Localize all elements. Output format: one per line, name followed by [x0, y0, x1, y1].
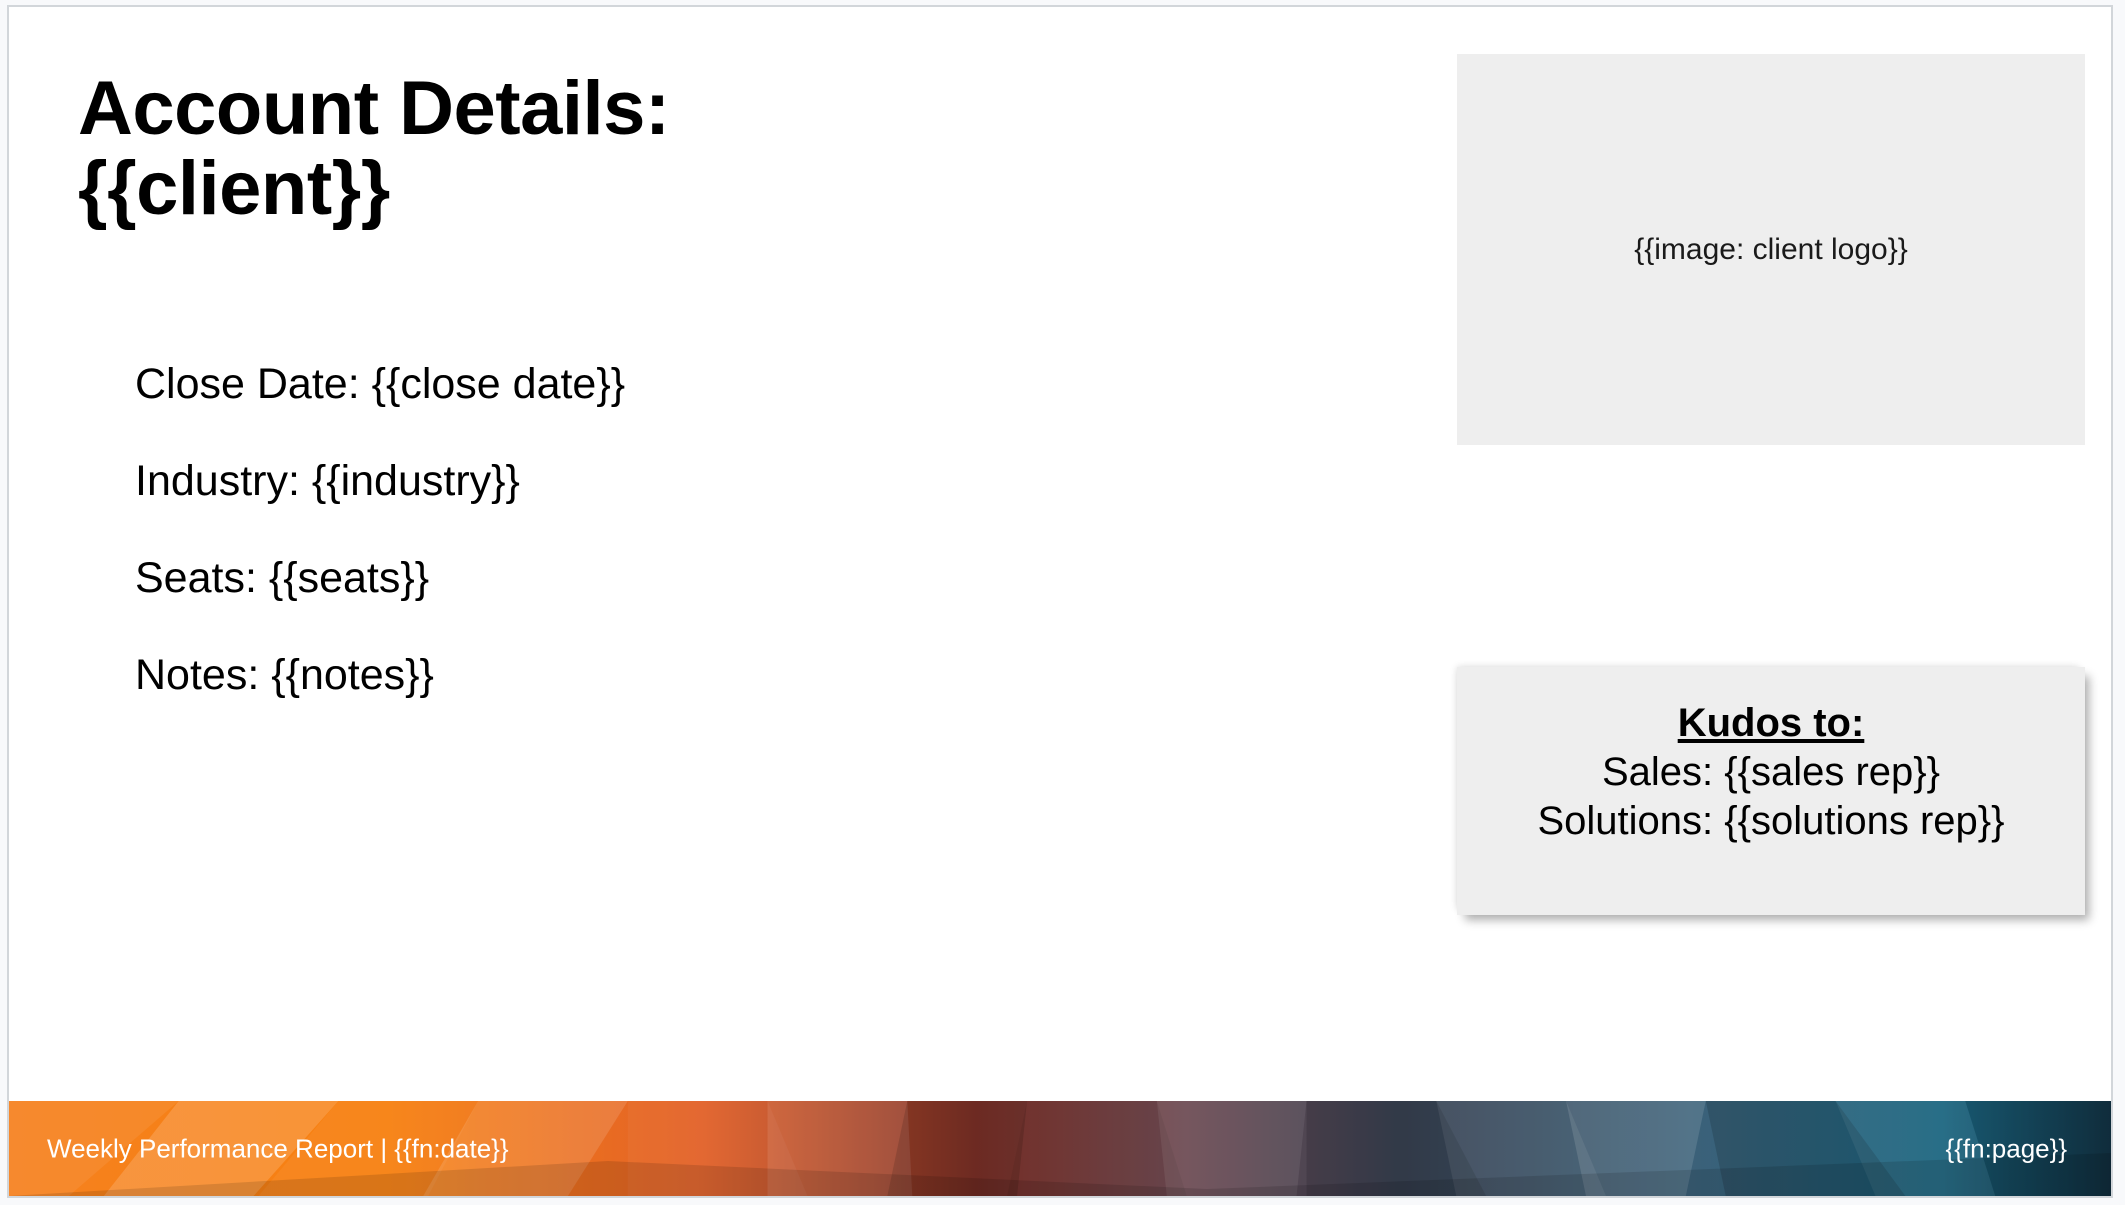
slide-footer: Weekly Performance Report | {{fn:date}} … — [9, 1101, 2111, 1196]
footer-page-number: {{fn:page}} — [1946, 1133, 2067, 1164]
page-title-line-1: Account Details: — [78, 69, 1378, 149]
slide-canvas: Account Details: {{client}} Close Date: … — [7, 5, 2113, 1198]
kudos-solutions-line: Solutions: {{solutions rep}} — [1537, 797, 2004, 846]
client-logo-placeholder-label: {{image: client logo}} — [1634, 233, 1908, 267]
page-title: Account Details: {{client}} — [78, 69, 1378, 229]
kudos-heading: Kudos to: — [1678, 699, 1865, 748]
footer-left-text: Weekly Performance Report | {{fn:date}} — [47, 1133, 509, 1164]
page-title-line-2: {{client}} — [78, 149, 1378, 229]
detail-close-date: Close Date: {{close date}} — [135, 362, 1385, 407]
kudos-sales-line: Sales: {{sales rep}} — [1602, 748, 1940, 797]
kudos-callout-box: Kudos to: Sales: {{sales rep}} Solutions… — [1457, 667, 2085, 915]
detail-notes: Notes: {{notes}} — [135, 653, 1385, 698]
client-logo-placeholder: {{image: client logo}} — [1457, 54, 2085, 445]
detail-seats: Seats: {{seats}} — [135, 556, 1385, 601]
account-details-list: Close Date: {{close date}} Industry: {{i… — [135, 362, 1385, 699]
detail-industry: Industry: {{industry}} — [135, 459, 1385, 504]
